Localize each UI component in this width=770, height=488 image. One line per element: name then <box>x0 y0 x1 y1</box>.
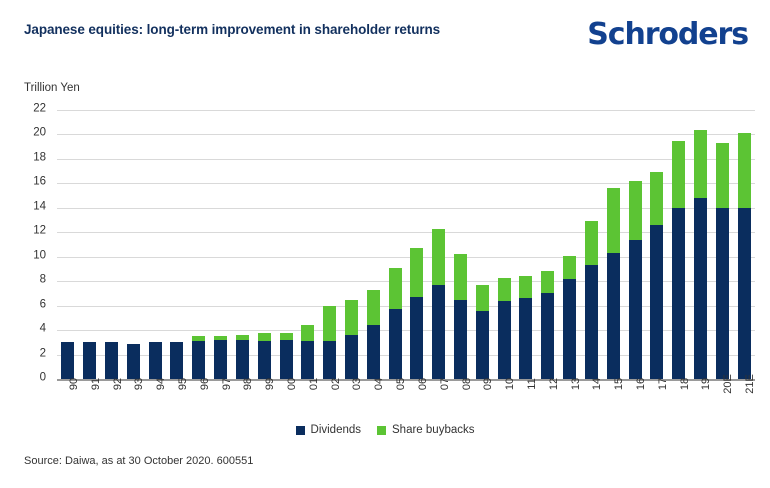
stacked-bar <box>454 254 467 379</box>
bar-segment-buybacks <box>498 278 511 301</box>
bar-slot <box>122 110 144 379</box>
stacked-bar <box>61 342 74 379</box>
bar-segment-buybacks <box>345 300 358 335</box>
stacked-bar <box>650 172 663 379</box>
y-axis-tick-label: 6 <box>6 298 46 310</box>
x-label-slot: 00 <box>275 383 297 419</box>
x-label-slot: 14 <box>581 383 603 419</box>
bar-segment-dividends <box>476 311 489 379</box>
stacked-bar <box>389 268 402 379</box>
x-label-slot: 94 <box>144 383 166 419</box>
stacked-bar <box>301 325 314 379</box>
bar-segment-buybacks <box>629 181 642 240</box>
bar-slot <box>341 110 363 379</box>
stacked-bar <box>280 333 293 379</box>
bar-segment-buybacks <box>476 285 489 311</box>
bar-slot <box>733 110 755 379</box>
bar-segment-buybacks <box>672 141 685 208</box>
x-label-slot: 92 <box>101 383 123 419</box>
bar-series-container <box>57 110 755 379</box>
stacked-bar <box>214 336 227 379</box>
stacked-bar <box>149 342 162 379</box>
x-label-slot: 97 <box>210 383 232 419</box>
bar-slot <box>711 110 733 379</box>
bar-slot <box>559 110 581 379</box>
bar-segment-dividends <box>694 198 707 379</box>
bar-segment-dividends <box>738 208 751 379</box>
stacked-bar <box>541 271 554 379</box>
bar-segment-buybacks <box>607 188 620 253</box>
bar-segment-dividends <box>301 341 314 379</box>
y-axis-tick-label: 18 <box>6 151 46 163</box>
bar-segment-buybacks <box>454 254 467 299</box>
chart-area: 0246810121416182022 90919293949596979899… <box>0 0 770 488</box>
bar-segment-dividends <box>629 240 642 379</box>
bar-slot <box>362 110 384 379</box>
stacked-bar <box>127 344 140 379</box>
x-label-slot: 20E <box>711 383 733 419</box>
bar-slot <box>493 110 515 379</box>
x-label-slot: 12 <box>537 383 559 419</box>
y-axis-tick-label: 12 <box>6 225 46 237</box>
x-label-slot: 04 <box>362 383 384 419</box>
bar-slot <box>166 110 188 379</box>
bar-segment-dividends <box>236 340 249 379</box>
stacked-bar <box>432 229 445 379</box>
stacked-bar <box>105 342 118 379</box>
stacked-bar <box>629 181 642 379</box>
bar-slot <box>79 110 101 379</box>
x-label-slot: 16 <box>624 383 646 419</box>
x-label-slot: 17 <box>646 383 668 419</box>
bar-segment-dividends <box>541 293 554 379</box>
bar-segment-buybacks <box>738 133 751 208</box>
bar-slot <box>253 110 275 379</box>
bar-segment-buybacks <box>389 268 402 310</box>
bar-segment-buybacks <box>519 276 532 298</box>
x-label-slot: 95 <box>166 383 188 419</box>
x-label-slot: 03 <box>341 383 363 419</box>
stacked-bar <box>345 300 358 379</box>
stacked-bar <box>694 130 707 379</box>
bar-segment-buybacks <box>258 333 271 342</box>
bar-segment-buybacks <box>541 271 554 293</box>
bar-segment-dividends <box>410 297 423 379</box>
x-label-slot: 13 <box>559 383 581 419</box>
bar-slot <box>319 110 341 379</box>
bar-segment-buybacks <box>280 333 293 340</box>
bar-slot <box>581 110 603 379</box>
bar-slot <box>668 110 690 379</box>
bar-slot <box>602 110 624 379</box>
bar-segment-buybacks <box>301 325 314 341</box>
bar-segment-dividends <box>672 208 685 379</box>
bar-segment-dividends <box>519 298 532 379</box>
x-label-slot: 96 <box>188 383 210 419</box>
stacked-bar <box>607 188 620 379</box>
bar-segment-dividends <box>563 279 576 379</box>
x-label-slot: 05 <box>384 383 406 419</box>
bar-segment-buybacks <box>367 290 380 325</box>
stacked-bar <box>170 342 183 379</box>
bar-segment-buybacks <box>563 256 576 279</box>
bar-slot <box>384 110 406 379</box>
stacked-bar <box>236 335 249 379</box>
x-axis-tick-label: 21E <box>744 374 756 394</box>
chart-legend: DividendsShare buybacks <box>0 424 770 436</box>
bar-segment-dividends <box>585 265 598 379</box>
x-label-slot: 19 <box>690 383 712 419</box>
y-axis-tick-label: 4 <box>6 323 46 335</box>
legend-label: Dividends <box>311 424 362 436</box>
bar-slot <box>690 110 712 379</box>
bar-segment-dividends <box>454 300 467 379</box>
legend-label: Share buybacks <box>392 424 474 436</box>
bar-slot <box>406 110 428 379</box>
x-label-slot: 11 <box>515 383 537 419</box>
stacked-bar <box>192 336 205 379</box>
bar-segment-dividends <box>170 342 183 379</box>
stacked-bar <box>367 290 380 379</box>
x-label-slot: 08 <box>450 383 472 419</box>
bar-segment-dividends <box>650 225 663 379</box>
x-axis-labels: 9091929394959697989900010203040506070809… <box>57 383 755 419</box>
x-label-slot: 21E <box>733 383 755 419</box>
bar-segment-buybacks <box>432 229 445 285</box>
legend-item[interactable]: Dividends <box>296 424 362 436</box>
bar-slot <box>297 110 319 379</box>
bar-segment-dividends <box>716 208 729 379</box>
bar-segment-dividends <box>367 325 380 379</box>
plot-region: 0246810121416182022 <box>57 110 755 379</box>
bar-segment-buybacks <box>694 130 707 198</box>
bar-slot <box>188 110 210 379</box>
x-label-slot: 90 <box>57 383 79 419</box>
stacked-bar <box>476 285 489 379</box>
bar-segment-dividends <box>149 342 162 379</box>
bar-segment-dividends <box>323 341 336 379</box>
y-axis-tick-label: 0 <box>6 372 46 384</box>
bar-segment-dividends <box>607 253 620 379</box>
y-axis-tick-label: 8 <box>6 274 46 286</box>
x-label-slot: 07 <box>428 383 450 419</box>
source-note: Source: Daiwa, as at 30 October 2020. 60… <box>24 455 253 467</box>
x-label-slot: 98 <box>232 383 254 419</box>
stacked-bar <box>410 248 423 379</box>
x-label-slot: 99 <box>253 383 275 419</box>
stacked-bar <box>83 342 96 379</box>
x-label-slot: 09 <box>471 383 493 419</box>
stacked-bar <box>323 306 336 379</box>
stacked-bar <box>585 221 598 379</box>
stacked-bar <box>519 276 532 379</box>
stacked-bar <box>258 333 271 379</box>
bar-slot <box>515 110 537 379</box>
x-label-slot: 06 <box>406 383 428 419</box>
bar-segment-buybacks <box>323 306 336 341</box>
bar-slot <box>646 110 668 379</box>
bar-slot <box>232 110 254 379</box>
stacked-bar <box>672 141 685 379</box>
bar-segment-dividends <box>498 301 511 379</box>
x-label-slot: 01 <box>297 383 319 419</box>
x-label-slot: 15 <box>602 383 624 419</box>
bar-slot <box>537 110 559 379</box>
bar-slot <box>275 110 297 379</box>
y-axis-tick-label: 14 <box>6 200 46 212</box>
bar-slot <box>101 110 123 379</box>
bar-segment-buybacks <box>716 143 729 208</box>
y-axis-tick-label: 10 <box>6 249 46 261</box>
legend-swatch <box>296 426 305 435</box>
bar-segment-buybacks <box>585 221 598 265</box>
bar-segment-dividends <box>345 335 358 379</box>
y-axis-tick-label: 22 <box>6 103 46 115</box>
legend-swatch <box>377 426 386 435</box>
stacked-bar <box>563 256 576 379</box>
bar-segment-dividends <box>61 342 74 379</box>
bar-segment-dividends <box>389 309 402 379</box>
legend-item[interactable]: Share buybacks <box>377 424 474 436</box>
bar-segment-dividends <box>192 341 205 379</box>
stacked-bar <box>716 143 729 379</box>
bar-slot <box>210 110 232 379</box>
bar-slot <box>144 110 166 379</box>
stacked-bar <box>498 278 511 379</box>
x-label-slot: 18 <box>668 383 690 419</box>
bar-segment-buybacks <box>650 172 663 225</box>
bar-segment-dividends <box>127 344 140 379</box>
x-label-slot: 91 <box>79 383 101 419</box>
bar-slot <box>624 110 646 379</box>
y-axis-tick-label: 16 <box>6 176 46 188</box>
bar-segment-dividends <box>280 340 293 379</box>
bar-segment-dividends <box>214 340 227 379</box>
bar-segment-dividends <box>258 341 271 379</box>
y-axis-tick-label: 20 <box>6 127 46 139</box>
bar-slot <box>428 110 450 379</box>
bar-segment-buybacks <box>410 248 423 297</box>
bar-segment-dividends <box>83 342 96 379</box>
x-label-slot: 93 <box>122 383 144 419</box>
bar-slot <box>471 110 493 379</box>
bar-segment-dividends <box>105 342 118 379</box>
x-label-slot: 10 <box>493 383 515 419</box>
bar-slot <box>450 110 472 379</box>
stacked-bar <box>738 133 751 379</box>
bar-segment-dividends <box>432 285 445 379</box>
y-axis-tick-label: 2 <box>6 347 46 359</box>
x-label-slot: 02 <box>319 383 341 419</box>
bar-slot <box>57 110 79 379</box>
